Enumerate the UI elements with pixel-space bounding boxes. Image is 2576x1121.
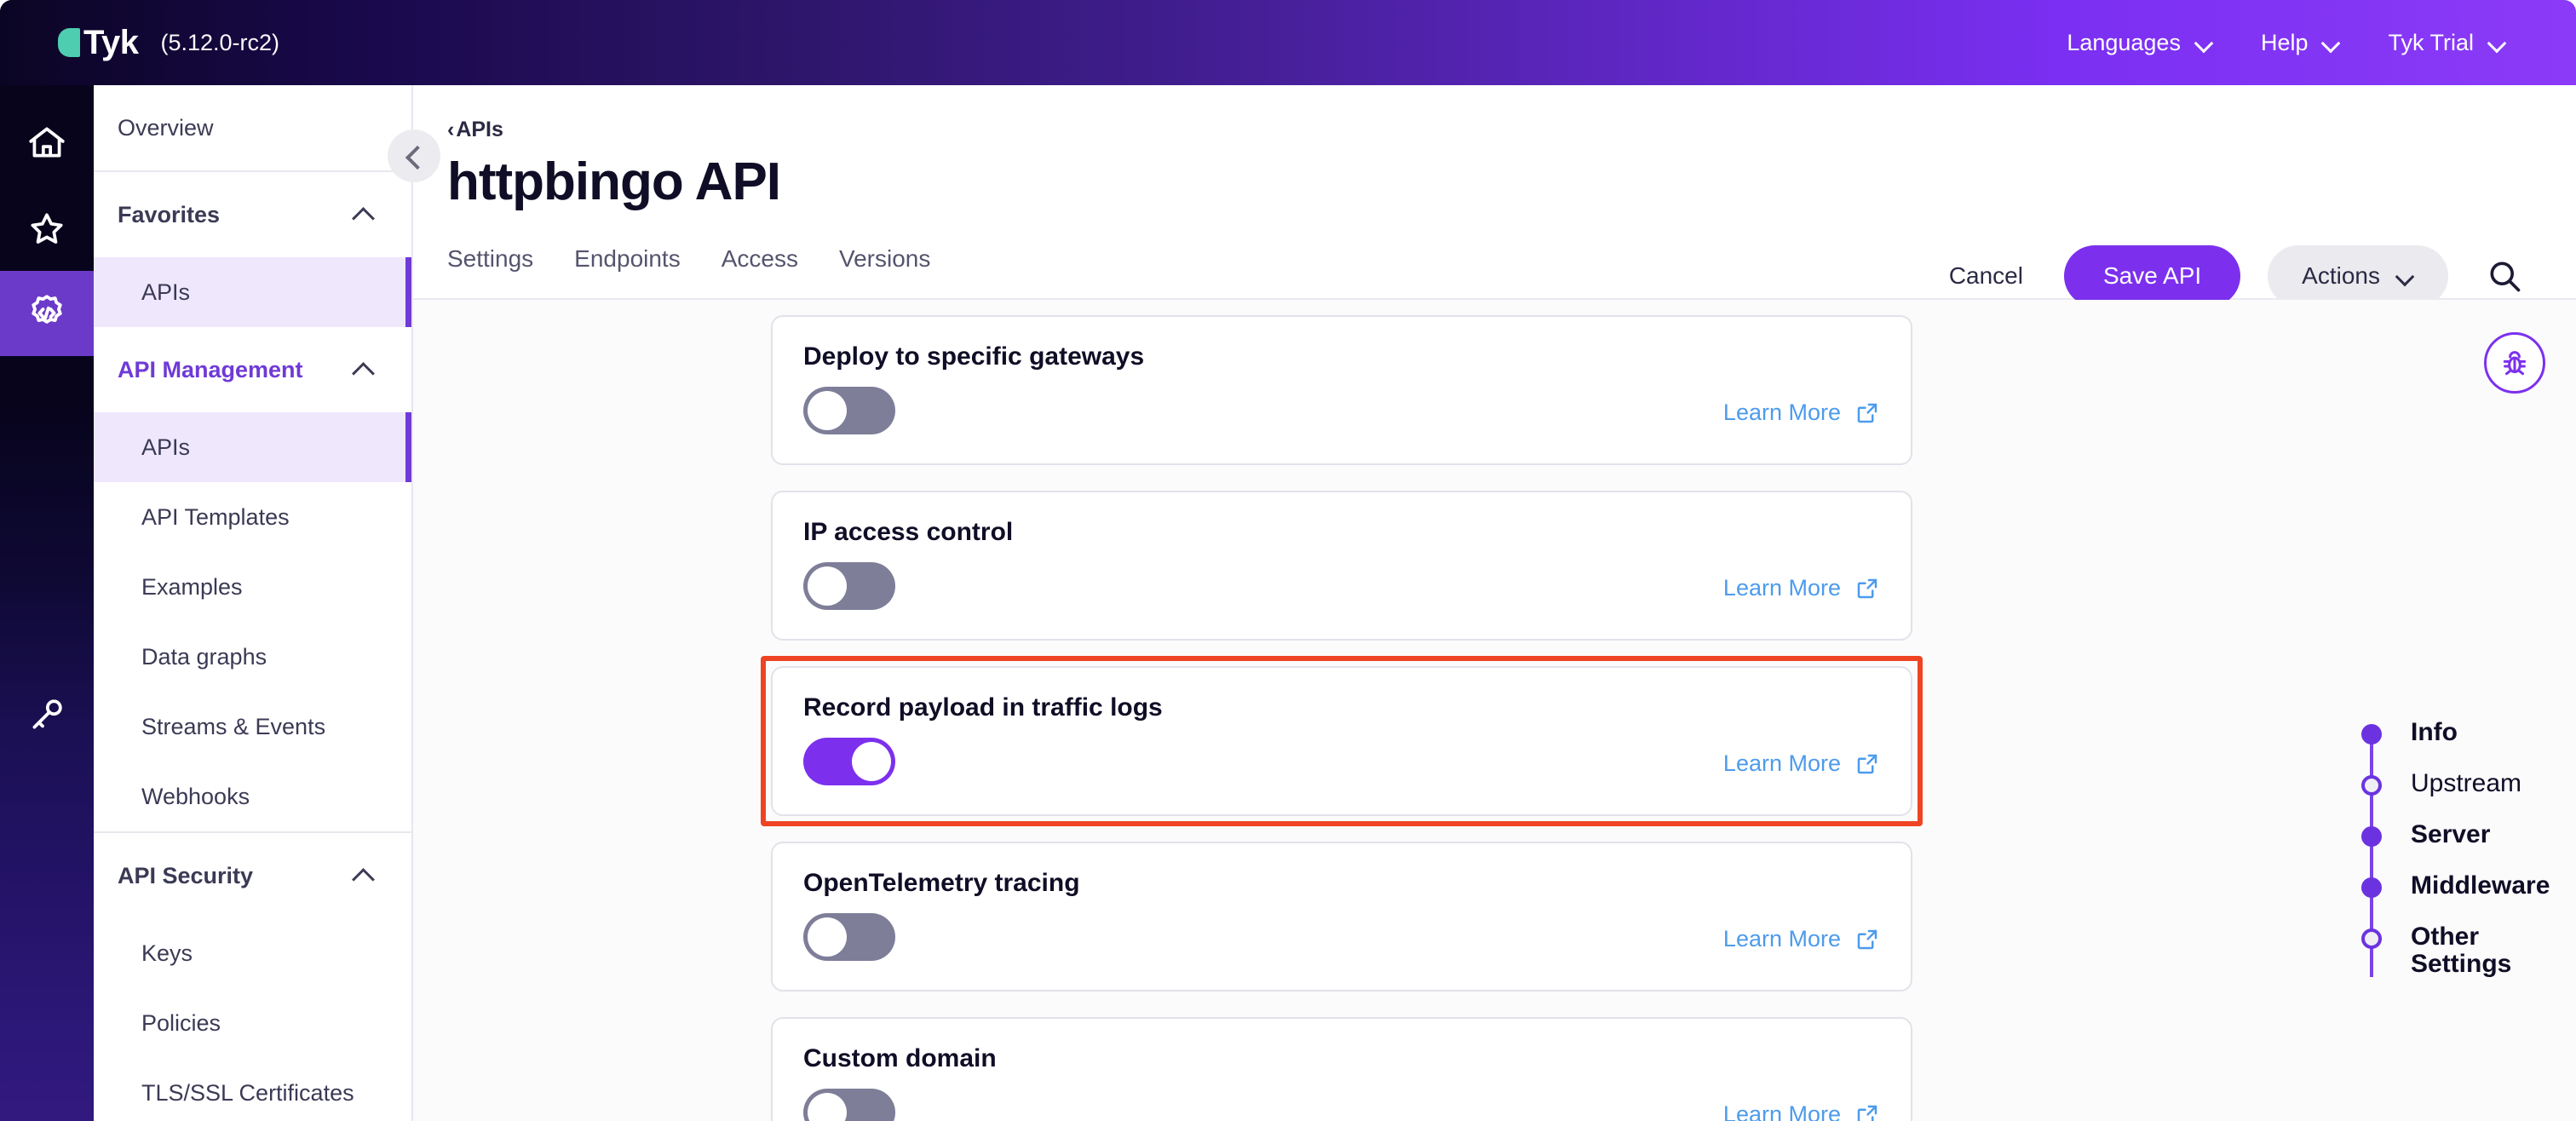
- save-api-button[interactable]: Save API: [2064, 245, 2240, 307]
- stepper-label: Info: [2411, 717, 2458, 746]
- stepper-label: Upstream: [2411, 768, 2521, 797]
- card-title: OpenTelemetry tracing: [803, 869, 1880, 898]
- menu-languages[interactable]: Languages: [2067, 30, 2213, 56]
- toggle-record-payload-in-traffic-logs[interactable]: [803, 738, 895, 785]
- external-link-icon: [1854, 927, 1880, 952]
- card-title-label: OpenTelemetry tracing: [803, 869, 1080, 898]
- tab-versions[interactable]: Versions: [839, 245, 930, 279]
- sidebar-item-label: Streams & Events: [141, 714, 325, 740]
- sidebar-collapse-button[interactable]: [388, 129, 440, 182]
- toggle-deploy-to-specific-gateways[interactable]: [803, 387, 895, 434]
- sidebar-item-label: Examples: [141, 574, 243, 601]
- sidebar-group-api-security[interactable]: API Security: [94, 833, 411, 918]
- sidebar-item-label: Overview: [118, 115, 214, 141]
- debug-button[interactable]: [2484, 332, 2545, 394]
- section-stepper: Info Upstream Server: [2360, 717, 2573, 973]
- stepper-label: Other Settings: [2411, 922, 2573, 979]
- chevron-up-icon: [352, 865, 374, 887]
- toggle-knob: [808, 391, 847, 430]
- chevron-down-icon: [2323, 34, 2340, 51]
- actions-button-label: Actions: [2302, 262, 2380, 290]
- external-link-icon: [1854, 751, 1880, 777]
- brand-name: Tyk: [83, 26, 138, 60]
- stepper-item-middleware[interactable]: Middleware: [2360, 871, 2573, 922]
- stepper-label: Server: [2411, 819, 2490, 848]
- tab-settings[interactable]: Settings: [447, 245, 533, 279]
- learn-more-link[interactable]: Learn More: [1723, 400, 1880, 426]
- rail-item-home[interactable]: [0, 101, 94, 186]
- sidebar-item-keys[interactable]: Keys: [94, 918, 411, 988]
- chevron-down-icon: [2489, 34, 2506, 51]
- sidebar-item-label: Webhooks: [141, 784, 250, 810]
- sidebar-item-label: APIs: [141, 434, 190, 461]
- card-deploy-to-specific-gateways: Deploy to specific gateways Learn More: [771, 315, 1912, 465]
- stepper-dot-hollow: [2361, 775, 2382, 796]
- star-icon: [26, 207, 68, 250]
- sidebar-item-data-graphs[interactable]: Data graphs: [94, 622, 411, 692]
- chevron-up-icon: [352, 359, 374, 381]
- toggle-ip-access-control[interactable]: [803, 562, 895, 610]
- stepper-dot-filled: [2361, 724, 2382, 744]
- sidebar: Overview Favorites APIs API Management A…: [94, 85, 413, 1121]
- learn-more-link[interactable]: Learn More: [1723, 575, 1880, 601]
- learn-more-label: Learn More: [1723, 400, 1841, 426]
- learn-more-link[interactable]: Learn More: [1723, 750, 1880, 777]
- app-root: Tyk (5.12.0-rc2) Languages Help Tyk Tria…: [0, 0, 2576, 1121]
- card-opentelemetry-tracing: OpenTelemetry tracing Learn More: [771, 842, 1912, 992]
- card-title-label: Custom domain: [803, 1044, 997, 1073]
- breadcrumb[interactable]: ‹ APIs: [447, 118, 503, 142]
- sidebar-item-api-templates[interactable]: API Templates: [94, 482, 411, 552]
- external-link-icon: [1854, 576, 1880, 601]
- card-title-label: IP access control: [803, 518, 1013, 547]
- chevron-down-icon: [2196, 34, 2213, 51]
- learn-more-label: Learn More: [1723, 575, 1841, 601]
- sidebar-group-favorites[interactable]: Favorites: [94, 172, 411, 257]
- card-title: IP access control: [803, 518, 1880, 547]
- top-bar: Tyk (5.12.0-rc2) Languages Help Tyk Tria…: [0, 0, 2576, 85]
- page-title: httpbingo API: [447, 152, 780, 212]
- stepper-item-info[interactable]: Info: [2360, 717, 2573, 768]
- external-link-icon: [1854, 400, 1880, 426]
- cancel-button[interactable]: Cancel: [1935, 262, 2037, 290]
- menu-account[interactable]: Tyk Trial: [2388, 30, 2506, 56]
- learn-more-link[interactable]: Learn More: [1723, 926, 1880, 952]
- stepper-label: Middleware: [2411, 871, 2550, 900]
- sidebar-group-api-management[interactable]: API Management: [94, 327, 411, 412]
- learn-more-label: Learn More: [1723, 1101, 1841, 1121]
- brand[interactable]: Tyk (5.12.0-rc2): [58, 26, 279, 60]
- toggle-knob: [808, 1093, 847, 1121]
- sidebar-item-label: Data graphs: [141, 644, 267, 670]
- card-title: Custom domain: [803, 1044, 1880, 1073]
- toggle-custom-domain[interactable]: [803, 1089, 895, 1121]
- card-record-payload-in-traffic-logs: Record payload in traffic logs Learn Mor…: [771, 666, 1912, 816]
- sidebar-item-favorites-apis[interactable]: APIs: [94, 257, 411, 327]
- sidebar-item-examples[interactable]: Examples: [94, 552, 411, 622]
- stepper-dot-wrap: [2360, 717, 2383, 744]
- tyk-logo[interactable]: Tyk: [58, 26, 138, 60]
- toggle-knob: [852, 742, 891, 781]
- chevron-left-icon: [403, 145, 425, 167]
- version-label: (5.12.0-rc2): [160, 30, 279, 56]
- sidebar-item-overview[interactable]: Overview: [94, 85, 411, 170]
- tab-endpoints[interactable]: Endpoints: [574, 245, 681, 279]
- learn-more-link[interactable]: Learn More: [1723, 1101, 1880, 1121]
- menu-account-label: Tyk Trial: [2388, 30, 2474, 56]
- card-ip-access-control: IP access control Learn More: [771, 491, 1912, 641]
- sidebar-item-streams-events[interactable]: Streams & Events: [94, 692, 411, 762]
- sidebar-group-label: API Security: [118, 863, 253, 889]
- stepper-dot-hollow: [2361, 928, 2382, 949]
- breadcrumb-label: APIs: [456, 118, 503, 142]
- header-actions: Cancel Save API Actions: [1935, 245, 2527, 307]
- highlight-annotation: Record payload in traffic logs Learn Mor…: [771, 666, 1912, 816]
- rail-item-api-management[interactable]: [0, 271, 94, 356]
- menu-help-label: Help: [2261, 30, 2309, 56]
- logo-leaf-icon: [58, 28, 80, 57]
- sidebar-item-label: Keys: [141, 940, 193, 967]
- sidebar-group-label: API Management: [118, 357, 303, 383]
- menu-languages-label: Languages: [2067, 30, 2181, 56]
- stepper-item-other-settings[interactable]: Other Settings: [2360, 922, 2573, 973]
- sidebar-item-label: APIs: [141, 279, 190, 306]
- learn-more-label: Learn More: [1723, 750, 1841, 777]
- sidebar-item-label: API Templates: [141, 504, 290, 531]
- sidebar-group-label: Favorites: [118, 202, 220, 228]
- external-link-icon: [1854, 1102, 1880, 1121]
- actions-button[interactable]: Actions: [2268, 245, 2448, 307]
- settings-content: Deploy to specific gateways Learn More: [413, 300, 2576, 1121]
- main-panel: ‹ APIs httpbingo API Settings Endpoints …: [413, 85, 2576, 1121]
- sidebar-item-tls-ssl-certificates[interactable]: TLS/SSL Certificates: [94, 1058, 411, 1121]
- sidebar-item-label: Policies: [141, 1010, 221, 1037]
- sidebar-item-webhooks[interactable]: Webhooks: [94, 762, 411, 831]
- home-icon: [26, 122, 68, 164]
- sidebar-item-apis[interactable]: APIs: [94, 412, 411, 482]
- card-title-label: Record payload in traffic logs: [803, 693, 1163, 722]
- tab-bar: Settings Endpoints Access Versions: [447, 245, 930, 279]
- toggle-knob: [808, 566, 847, 606]
- search-button[interactable]: [2482, 254, 2527, 298]
- menu-help[interactable]: Help: [2261, 30, 2341, 56]
- icon-rail: [0, 0, 94, 1121]
- chevron-down-icon: [2397, 267, 2414, 285]
- search-icon: [2486, 257, 2523, 295]
- stepper-dot-filled: [2361, 877, 2382, 898]
- rail-item-favorites[interactable]: [0, 186, 94, 271]
- chevron-up-icon: [352, 204, 374, 226]
- stepper-dot-filled: [2361, 826, 2382, 847]
- key-icon: [26, 693, 68, 735]
- top-bar-menus: Languages Help Tyk Trial: [2067, 30, 2506, 56]
- stepper-item-server[interactable]: Server: [2360, 819, 2573, 871]
- settings-card-list: Deploy to specific gateways Learn More: [771, 315, 1912, 1121]
- bug-icon: [2498, 347, 2531, 379]
- stepper-item-upstream[interactable]: Upstream: [2360, 768, 2573, 819]
- toggle-knob: [808, 917, 847, 957]
- toggle-opentelemetry-tracing[interactable]: [803, 913, 895, 961]
- card-title: Record payload in traffic logs: [803, 693, 1880, 722]
- card-title: Deploy to specific gateways: [803, 342, 1880, 371]
- breadcrumb-back-icon: ‹: [447, 118, 454, 142]
- card-custom-domain: Custom domain Learn More: [771, 1017, 1912, 1121]
- learn-more-label: Learn More: [1723, 926, 1841, 952]
- rail-item-api-security[interactable]: [0, 671, 94, 756]
- card-title-label: Deploy to specific gateways: [803, 342, 1144, 371]
- tab-access[interactable]: Access: [722, 245, 798, 279]
- api-code-gear-icon: [24, 290, 70, 336]
- sidebar-item-policies[interactable]: Policies: [94, 988, 411, 1058]
- sidebar-item-label: TLS/SSL Certificates: [141, 1080, 354, 1107]
